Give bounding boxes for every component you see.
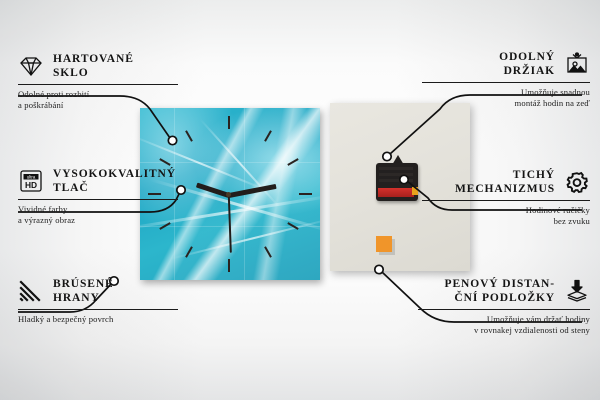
gear-icon (564, 170, 590, 194)
battery-terminal (412, 187, 418, 195)
feature-description-line-1: Vividné farby (18, 204, 178, 215)
feature-description-line-1: Umožňuje snadnou (422, 87, 590, 98)
feature-title-line-2: DRŽIAK (499, 64, 555, 78)
feature-title-line-1: ODOLNÝ (499, 50, 555, 64)
diagonal-stripes-icon (18, 279, 44, 303)
feature-divider (422, 200, 590, 201)
feature-title-line-1: VYSOKOKVALITNÝ (53, 167, 176, 181)
feature-title-line-2: TLAČ (53, 181, 176, 195)
feature-description: Vividné farby a výrazný obraz (18, 204, 178, 226)
feature-divider (422, 82, 590, 83)
svg-text:ultra: ultra (27, 174, 36, 179)
feature-description-line-1: Hodinové ručičky (422, 205, 590, 216)
feature-title-line-2: MECHANIZMUS (455, 182, 555, 196)
ultra-hd-icon: ultra HD (18, 169, 44, 193)
feature-description: Hodinové ručičky bez zvuku (422, 205, 590, 227)
feature-title-line-1: TICHÝ (455, 168, 555, 182)
feature-description-line-1: Odolné proti rozbití (18, 89, 178, 100)
arrow-onto-layers-icon (564, 279, 590, 303)
feature-ground-edges: BRÚSENÉ HRANY Hladký a bezpečný povrch (18, 277, 178, 325)
mechanism-face-detail (379, 167, 413, 184)
feature-description-line-2: montáž hodin na zeď (422, 98, 590, 109)
feature-title-line-1: PENOVÝ DISTAN- (445, 277, 555, 291)
feature-description: Odolné proti rozbití a poškrábání (18, 89, 178, 111)
feature-foam-spacers: PENOVÝ DISTAN- ČNÍ PODLOŽKY Umožňuje vám… (418, 277, 590, 336)
feature-description-line-2: a výrazný obraz (18, 215, 178, 226)
picture-frame-icon (564, 52, 590, 76)
feature-description: Umožňuje vám držať hodiny v rovnakej vzd… (418, 314, 590, 336)
svg-text:HD: HD (25, 180, 37, 190)
feature-divider (18, 199, 178, 200)
feature-divider (418, 309, 590, 310)
feature-description-line-2: v rovnakej vzdialenosti od steny (418, 325, 590, 336)
feature-description: Umožňuje snadnou montáž hodin na zeď (422, 87, 590, 109)
feature-title-line-1: BRÚSENÉ (53, 277, 114, 291)
feature-description: Hladký a bezpečný povrch (18, 314, 178, 325)
feature-silent-mechanism: TICHÝ MECHANIZMUS Hodinové ručičky bez z… (422, 168, 590, 227)
feature-hardened-glass: HARTOVANÉ SKLO Odolné proti rozbití a po… (18, 52, 178, 111)
feature-divider (18, 84, 178, 85)
feature-description-line-1: Hladký a bezpečný povrch (18, 314, 178, 325)
feature-title-line-2: ČNÍ PODLOŽKY (445, 291, 555, 305)
clock-center-cap (226, 192, 231, 197)
feature-title-line-2: SKLO (53, 66, 134, 80)
feature-description-line-2: a poškrábání (18, 100, 178, 111)
feature-description-line-1: Umožňuje vám držať hodiny (418, 314, 590, 325)
feature-high-quality-print: ultra HD VYSOKOKVALITNÝ TLAČ Vividné far… (18, 167, 178, 226)
foam-spacer-pad (376, 236, 392, 252)
battery (378, 188, 414, 197)
feature-title-line-2: HRANY (53, 291, 114, 305)
feature-durable-hanger: ODOLNÝ DRŽIAK Umožňuje snadnou montáž ho… (422, 50, 590, 109)
feature-description-line-2: bez zvuku (422, 216, 590, 227)
diamond-icon (18, 54, 44, 78)
feature-title-line-1: HARTOVANÉ (53, 52, 134, 66)
feature-divider (18, 309, 178, 310)
